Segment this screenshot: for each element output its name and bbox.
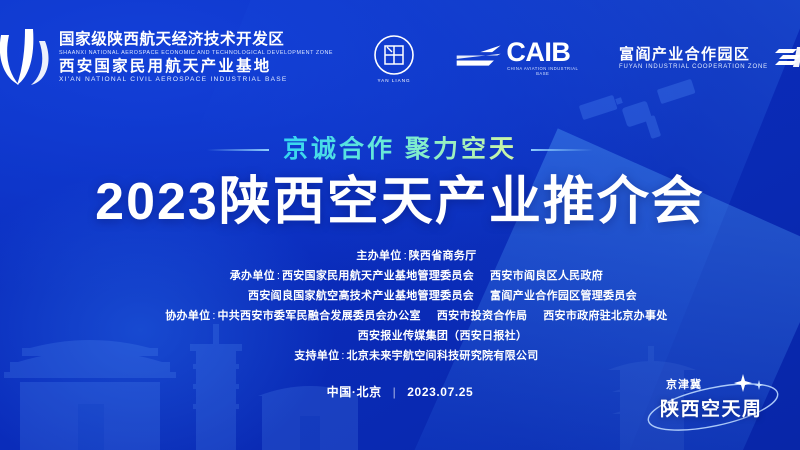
organizer-value: 西安阎良国家航空高技术产业基地管理委员会 (248, 288, 474, 305)
sponsor-logo-bar: 国家级陕西航天经济技术开发区 SHAANXI NATIONAL AEROSPAC… (0, 22, 800, 94)
fuyan-stripes-icon (775, 46, 800, 70)
caib-aircraft-icon (455, 41, 502, 75)
organizer-value: 西安报业传媒集团（西安日报社） (358, 328, 528, 345)
organizer-colon: : (210, 308, 217, 325)
logo-shaanxi-aerospace: 国家级陕西航天经济技术开发区 SHAANXI NATIONAL AEROSPAC… (0, 27, 333, 89)
organizer-label: 承办单位 (197, 268, 275, 285)
logo-caib-word: CAIB (506, 40, 579, 64)
sail-swoosh-icon (0, 27, 51, 89)
event-location: 中国·北京 (327, 385, 382, 399)
organizer-values: 中共西安市委军民融合发展委员会办公室西安市投资合作局西安市政府驻北京办事处 (217, 308, 667, 325)
organizer-row: 承办单位:西安国家民用航天产业基地管理委员会西安市阎良区人民政府 (197, 268, 603, 285)
aerospace-week-badge: 京津冀 陕西空天周 (638, 374, 788, 436)
footer-divider: | (393, 385, 397, 399)
logo-cn-line2: 西安国家民用航天产业基地 (59, 59, 333, 75)
logo-cn-line1: 国家级陕西航天经济技术开发区 (59, 32, 333, 48)
rule-right (531, 149, 593, 151)
poster-canvas: 国家级陕西航天经济技术开发区 SHAANXI NATIONAL AEROSPAC… (0, 0, 800, 450)
organizer-value: 北京未来宇航空间科技研究院有限公司 (346, 348, 538, 365)
organizer-values: 西安报业传媒集团（西安日报社） (358, 328, 528, 345)
organizer-colon: : (275, 268, 282, 285)
logo-caib: CAIB CHINA AVIATION INDUSTRIAL BASE (455, 40, 579, 75)
organizer-value: 富阎产业合作园区管理委员会 (490, 288, 637, 305)
organizer-row: 西安阎良国家航空高技术产业基地管理委员会富阎产业合作园区管理委员会 (163, 288, 637, 305)
hero-subtitle: 京诚合作 聚力空天 (283, 136, 517, 164)
organizer-row: 协办单位:中共西安市委军民融合发展委员会办公室西安市投资合作局西安市政府驻北京办… (132, 308, 667, 325)
organizer-value: 西安市政府驻北京办事处 (543, 308, 667, 325)
organizer-label: 协办单位 (132, 308, 210, 325)
organizer-value: 西安市投资合作局 (437, 308, 527, 325)
organizer-row: 支持单位:北京未来宇航空间科技研究院有限公司 (261, 348, 538, 365)
organizer-label: 支持单位 (261, 348, 339, 365)
logo-en-line2: XI'AN NATIONAL CIVIL AEROSPACE INDUSTRIA… (59, 77, 333, 84)
organizer-values: 西安国家民用航天产业基地管理委员会西安市阎良区人民政府 (282, 268, 603, 285)
logo-fuyan-cn: 富阎产业合作园区 (619, 47, 768, 62)
logo-caib-subtitle: CHINA AVIATION INDUSTRIAL BASE (506, 66, 579, 76)
organizer-label: 主办单位 (324, 248, 402, 265)
badge-region-label: 京津冀 (666, 376, 702, 392)
organizer-row: 主办单位:陕西省商务厅 (324, 248, 477, 265)
badge-event-label: 陕西空天周 (660, 394, 763, 421)
organizer-value: 中共西安市委军民融合发展委员会办公室 (217, 308, 420, 325)
logo-fuyan-en: FUYAN INDUSTRIAL COOPERATION ZONE (619, 64, 768, 70)
organizer-value: 西安市阎良区人民政府 (490, 268, 603, 285)
organizer-value: 陕西省商务厅 (409, 248, 477, 265)
logo-en-line1: SHAANXI NATIONAL AEROSPACE ECONOMIC AND … (59, 51, 333, 56)
event-date: 2023.07.25 (407, 385, 473, 399)
hero-subtitle-row: 京诚合作 聚力空天 (0, 136, 800, 164)
organizer-values: 陕西省商务厅 (409, 248, 477, 265)
organizer-values: 西安阎良国家航空高技术产业基地管理委员会富阎产业合作园区管理委员会 (248, 288, 637, 305)
organizer-value: 西安国家民用航天产业基地管理委员会 (282, 268, 474, 285)
organizer-colon: : (402, 248, 409, 265)
organizer-colon: : (339, 348, 346, 365)
organizer-row: 西安报业传媒集团（西安日报社） (273, 328, 528, 345)
yanliang-seal-icon (373, 34, 415, 76)
rule-left (207, 149, 269, 151)
logo-fuyan: 富阎产业合作园区 FUYAN INDUSTRIAL COOPERATION ZO… (619, 46, 800, 70)
organizer-values: 北京未来宇航空间科技研究院有限公司 (346, 348, 538, 365)
logo-yanliang-caption: YAN LIANG (377, 78, 410, 83)
hero-title: 2023陕西空天产业推介会 (0, 172, 800, 232)
logo-yanliang: YAN LIANG (373, 34, 415, 83)
organizer-list: 主办单位:陕西省商务厅承办单位:西安国家民用航天产业基地管理委员会西安市阎良区人… (0, 248, 800, 365)
